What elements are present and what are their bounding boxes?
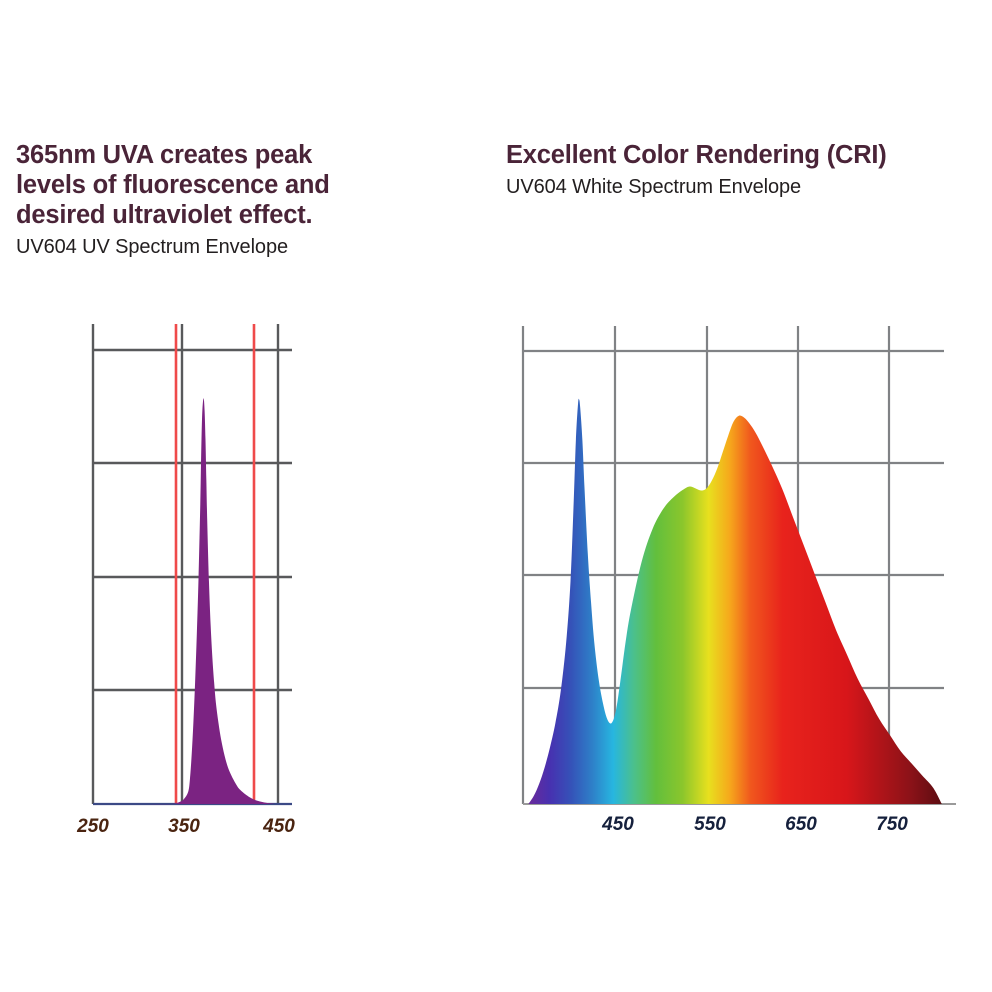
cri-title-line-1: Excellent Color Rendering (CRI): [506, 141, 887, 169]
uv-title-line-3: desired ultraviolet effect.: [16, 201, 312, 229]
cri-tick-550: 550: [694, 814, 726, 835]
uv-spectrum-panel: 365nm UVA creates peak levels of fluores…: [0, 0, 496, 992]
cri-spectrum-curve: [528, 399, 941, 804]
cri-plot-area: 450 550 650 750: [496, 318, 992, 508]
uv-plot-area: 250 350 450: [0, 318, 496, 508]
cri-x-tick-labels: 450 550 650 750: [601, 814, 908, 835]
uv-chart-subtitle: UV604 UV Spectrum Envelope: [16, 230, 416, 260]
uv-tick-350: 350: [168, 816, 200, 837]
uv-chart-title: 365nm UVA creates peak levels of fluores…: [16, 140, 416, 230]
uv-spectrum-svg: 250 350 450: [0, 318, 496, 848]
uv-heading-block: 365nm UVA creates peak levels of fluores…: [16, 140, 416, 260]
cri-chart-title: Excellent Color Rendering (CRI): [506, 140, 986, 170]
cri-tick-450: 450: [601, 814, 634, 835]
cri-heading-block: Excellent Color Rendering (CRI) UV604 Wh…: [506, 140, 986, 200]
uv-x-tick-labels: 250 350 450: [76, 816, 295, 837]
uv-vertical-gridlines: [93, 324, 278, 804]
cri-spectrum-panel: Excellent Color Rendering (CRI) UV604 Wh…: [496, 0, 992, 992]
uv-tick-450: 450: [262, 816, 295, 837]
cri-tick-750: 750: [876, 814, 908, 835]
uv-title-line-2: levels of fluorescence and: [16, 171, 330, 199]
cri-tick-650: 650: [785, 814, 817, 835]
uv-title-line-1: 365nm UVA creates peak: [16, 141, 312, 169]
uv-horizontal-gridlines: [93, 350, 292, 690]
cri-spectrum-svg: 450 550 650 750: [496, 318, 992, 848]
cri-chart-subtitle: UV604 White Spectrum Envelope: [506, 170, 986, 200]
uv-tick-250: 250: [76, 816, 109, 837]
